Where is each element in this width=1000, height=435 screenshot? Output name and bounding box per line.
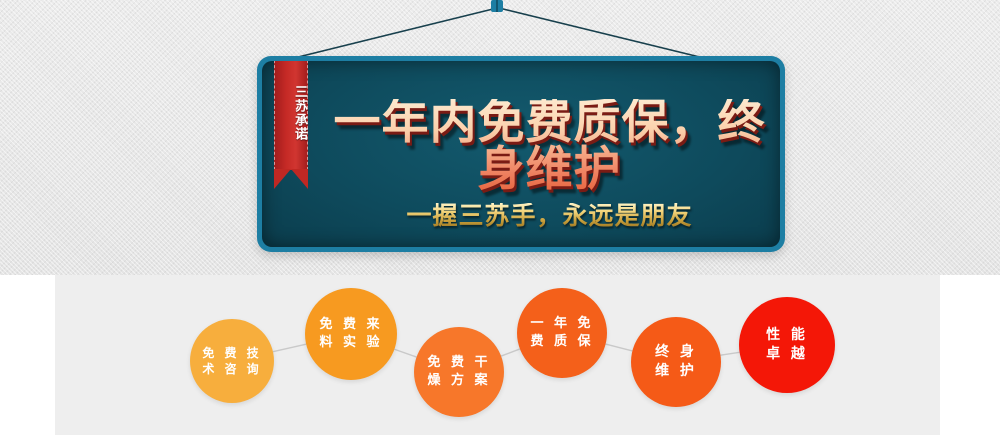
flow-step-label: 终 身维 护 bbox=[655, 343, 697, 381]
flow-step-label: 免 费 技术 咨 询 bbox=[202, 345, 261, 377]
flow-step-4[interactable]: 一 年 免费 质 保 bbox=[517, 288, 607, 378]
ribbon-label: 三苏承诺 bbox=[274, 63, 308, 163]
flow-step-1[interactable]: 免 费 技术 咨 询 bbox=[190, 319, 274, 403]
banner-subtitle: 一握三苏手，永远是朋友 bbox=[322, 203, 777, 228]
flow-step-label: 免 费 来料 实 验 bbox=[319, 316, 382, 351]
flow-step-label: 免 费 干燥 方 案 bbox=[427, 354, 490, 389]
service-flow: 免 费 技术 咨 询免 费 来料 实 验免 费 干燥 方 案一 年 免费 质 保… bbox=[0, 275, 1000, 435]
flow-step-5[interactable]: 终 身维 护 bbox=[631, 317, 721, 407]
banner-inner-board: 三苏承诺 一年内免费质保，终身维护 一握三苏手，永远是朋友 bbox=[262, 61, 780, 247]
banner-title: 一年内免费质保，终身维护 bbox=[322, 99, 777, 193]
flow-connector bbox=[606, 344, 633, 351]
flow-connector bbox=[273, 344, 306, 352]
promo-banner-page: 三苏承诺 一年内免费质保，终身维护 一握三苏手，永远是朋友 免 费 技术 咨 询… bbox=[0, 0, 1000, 435]
flow-connector bbox=[501, 349, 520, 356]
ribbon-badge: 三苏承诺 bbox=[274, 61, 308, 190]
ribbon-tail bbox=[274, 169, 308, 189]
flow-connector bbox=[394, 349, 416, 357]
flow-step-2[interactable]: 免 费 来料 实 验 bbox=[305, 288, 397, 380]
flow-step-3[interactable]: 免 费 干燥 方 案 bbox=[414, 327, 504, 417]
promise-banner: 三苏承诺 一年内免费质保，终身维护 一握三苏手，永远是朋友 bbox=[257, 56, 785, 252]
flow-step-label: 性 能卓 越 bbox=[766, 326, 808, 364]
flow-step-6[interactable]: 性 能卓 越 bbox=[739, 297, 835, 393]
flow-step-label: 一 年 免费 质 保 bbox=[530, 315, 593, 350]
flow-connector bbox=[720, 352, 739, 355]
